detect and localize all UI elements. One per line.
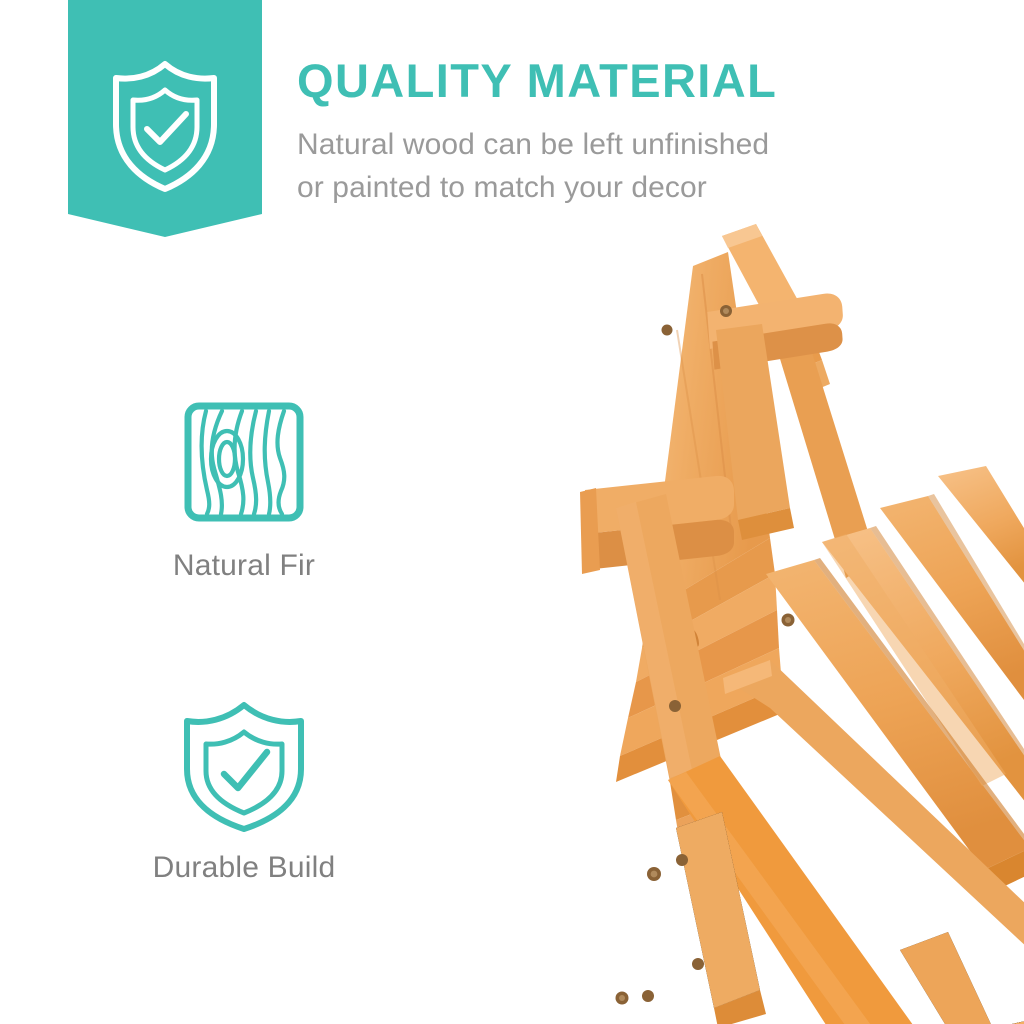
bench-seat-slats <box>766 466 1024 894</box>
page-subtitle: Natural wood can be left unfinished or p… <box>297 124 897 209</box>
product-image-folding-wooden-bench <box>470 208 1024 1024</box>
shield-check-icon <box>174 694 314 834</box>
feature-item-natural-fir: Natural Fir <box>74 392 414 584</box>
wood-grain-icon <box>174 392 314 532</box>
feature-list: Natural Fir Durable Build <box>74 392 414 886</box>
feature-label: Natural Fir <box>74 548 414 584</box>
bench-right-leg <box>900 932 1024 1024</box>
bench-illustration <box>470 208 1024 1024</box>
header-text-block: QUALITY MATERIAL Natural wood can be lef… <box>297 57 897 209</box>
feature-item-durable-build: Durable Build <box>74 694 414 886</box>
subtitle-line-2: or painted to match your decor <box>297 167 897 210</box>
feature-label: Durable Build <box>74 850 414 886</box>
page-title: QUALITY MATERIAL <box>297 57 897 104</box>
feature-card: QUALITY MATERIAL Natural wood can be lef… <box>0 0 1024 1024</box>
shield-check-icon <box>106 58 224 194</box>
subtitle-line-1: Natural wood can be left unfinished <box>297 124 897 167</box>
quality-banner <box>68 0 262 237</box>
